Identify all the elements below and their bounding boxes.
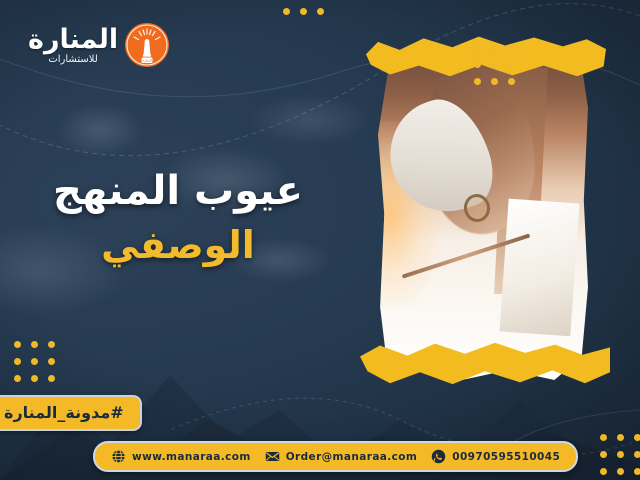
globe-icon	[111, 449, 126, 464]
brand-logo: المنارة للاستشارات المنارة	[28, 22, 170, 68]
contact-email[interactable]: Order@manaraa.com	[265, 449, 418, 464]
lighthouse-emblem-icon: المنارة	[124, 22, 170, 68]
contact-email-label: Order@manaraa.com	[286, 451, 418, 463]
dot-row-top	[283, 8, 324, 15]
envelope-icon	[265, 449, 280, 464]
feature-photo-image	[378, 48, 588, 380]
hashtag-badge[interactable]: #مدونة_المنارة	[0, 395, 142, 431]
poster-canvas: المنارة للاستشارات المنارة عيوب المنهج ا…	[0, 0, 640, 480]
contact-website-label: www.manaraa.com	[132, 451, 251, 463]
brand-wordmark: المنارة للاستشارات	[28, 26, 118, 65]
dot-grid-bottom-right	[600, 434, 640, 475]
brand-name-arabic: المنارة	[28, 26, 118, 53]
contact-website[interactable]: www.manaraa.com	[111, 449, 251, 464]
dot-grid-photo-overlay	[474, 44, 515, 85]
feature-photo	[378, 48, 588, 380]
brand-tagline-arabic: للاستشارات	[48, 55, 97, 65]
svg-text:المنارة: المنارة	[142, 59, 151, 63]
title-line-1: عيوب المنهج	[0, 168, 356, 215]
photo-book-shape	[499, 198, 579, 335]
title-line-2: الوصفي	[0, 223, 356, 269]
page-title: عيوب المنهج الوصفي	[0, 168, 356, 269]
contact-bar: www.manaraa.com Order@manaraa.com 009705…	[93, 441, 578, 472]
contact-phone-label: 00970595510045	[452, 451, 560, 463]
whatsapp-icon	[431, 449, 446, 464]
dot-grid-left	[14, 341, 55, 382]
contact-phone[interactable]: 00970595510045	[431, 449, 560, 464]
